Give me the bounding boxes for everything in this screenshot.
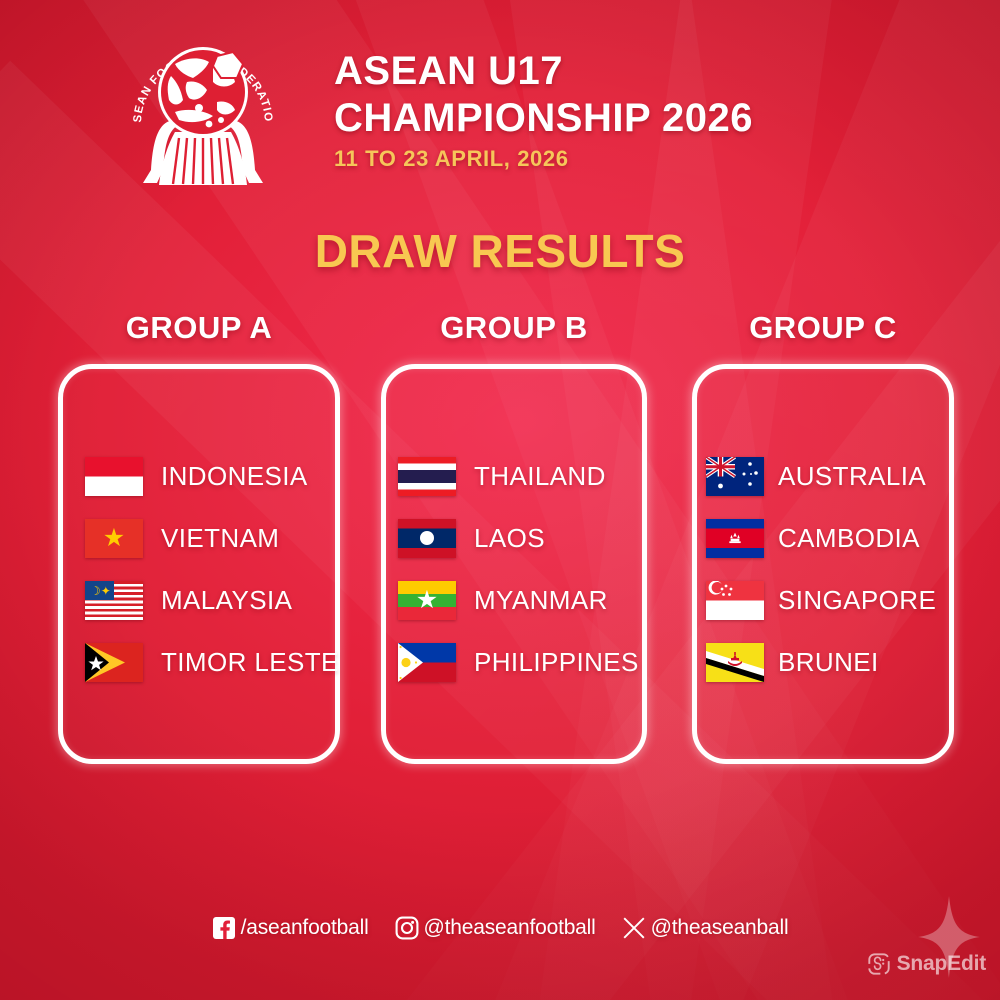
instagram-handle: @theaseanfootball bbox=[424, 916, 596, 940]
timor-leste-flag bbox=[85, 643, 143, 682]
vietnam-flag: ★ bbox=[85, 519, 143, 558]
facebook-handle: /aseanfootball bbox=[241, 916, 369, 940]
team-name: SINGAPORE bbox=[778, 585, 936, 616]
groups-section: GROUP A INDONESIA ★ VIETNAM ☽✦ MALAYSIA bbox=[0, 312, 1000, 782]
title-line-2: CHAMPIONSHIP 2026 bbox=[334, 95, 753, 142]
draw-results-heading: DRAW RESULTS bbox=[315, 224, 686, 278]
title-line-1: ASEAN U17 bbox=[334, 48, 753, 95]
indonesia-flag bbox=[85, 457, 143, 496]
team-name: TIMOR LESTE bbox=[161, 647, 339, 678]
group-column-c: GROUP C bbox=[692, 312, 954, 764]
x-twitter-icon bbox=[622, 916, 646, 940]
social-link-facebook[interactable]: /aseanfootball bbox=[212, 916, 369, 940]
team-row[interactable]: CAMBODIA bbox=[697, 507, 949, 569]
group-c-panel: AUSTRALIA bbox=[692, 364, 954, 764]
group-a-title: GROUP A bbox=[58, 312, 340, 354]
event-dates: 11 TO 23 APRIL, 2026 bbox=[334, 146, 753, 172]
team-row[interactable]: TIMOR LESTE bbox=[63, 631, 335, 693]
snapedit-watermark: SnapEdit bbox=[868, 952, 986, 976]
social-link-x-twitter[interactable]: @theaseanball bbox=[622, 916, 789, 940]
team-name: PHILIPPINES bbox=[474, 647, 639, 678]
myanmar-flag: ★ bbox=[398, 581, 456, 620]
instagram-icon bbox=[395, 916, 419, 940]
singapore-flag bbox=[706, 581, 764, 620]
snapedit-label: SnapEdit bbox=[897, 952, 986, 976]
cambodia-flag bbox=[706, 519, 764, 558]
social-link-instagram[interactable]: @theaseanfootball bbox=[395, 916, 596, 940]
team-row[interactable]: ★ MYANMAR bbox=[386, 569, 642, 631]
team-row[interactable]: ☽✦ MALAYSIA bbox=[63, 569, 335, 631]
team-name: INDONESIA bbox=[161, 461, 308, 492]
brunei-flag bbox=[706, 643, 764, 682]
team-name: CAMBODIA bbox=[778, 523, 920, 554]
thailand-flag bbox=[398, 457, 456, 496]
social-footer: /aseanfootball @theaseanfootball @thease… bbox=[0, 916, 1000, 940]
header: ASEAN FOOTBALL FEDERATION bbox=[0, 14, 1000, 199]
team-name: THAILAND bbox=[474, 461, 606, 492]
draw-results-section: DRAW RESULTS bbox=[0, 224, 1000, 278]
event-title-block: ASEAN U17 CHAMPIONSHIP 2026 11 TO 23 APR… bbox=[334, 48, 753, 172]
malaysia-flag: ☽✦ bbox=[85, 581, 143, 620]
team-row[interactable]: SINGAPORE bbox=[697, 569, 949, 631]
team-name: MYANMAR bbox=[474, 585, 608, 616]
group-b-panel: THAILAND LAOS ★ MYANMAR bbox=[381, 364, 647, 764]
laos-flag bbox=[398, 519, 456, 558]
philippines-flag bbox=[398, 643, 456, 682]
group-a-panel: INDONESIA ★ VIETNAM ☽✦ MALAYSIA bbox=[58, 364, 340, 764]
asean-football-federation-logo: ASEAN FOOTBALL FEDERATION bbox=[113, 20, 293, 200]
team-row[interactable]: ★ VIETNAM bbox=[63, 507, 335, 569]
team-row[interactable]: AUSTRALIA bbox=[697, 445, 949, 507]
group-column-a: GROUP A INDONESIA ★ VIETNAM ☽✦ MALAYSIA bbox=[58, 312, 340, 764]
team-row[interactable]: BRUNEI bbox=[697, 631, 949, 693]
group-column-b: GROUP B THAILAND LAOS ★ MYANMAR bbox=[381, 312, 647, 764]
team-name: VIETNAM bbox=[161, 523, 279, 554]
facebook-icon bbox=[212, 916, 236, 940]
group-c-title: GROUP C bbox=[692, 312, 954, 354]
team-name: BRUNEI bbox=[778, 647, 879, 678]
team-row[interactable]: PHILIPPINES bbox=[386, 631, 642, 693]
team-row[interactable]: LAOS bbox=[386, 507, 642, 569]
snapedit-logo-icon bbox=[868, 953, 890, 975]
team-name: AUSTRALIA bbox=[778, 461, 926, 492]
team-row[interactable]: INDONESIA bbox=[63, 445, 335, 507]
australia-flag bbox=[706, 457, 764, 496]
x-twitter-handle: @theaseanball bbox=[651, 916, 789, 940]
group-b-title: GROUP B bbox=[381, 312, 647, 354]
team-row[interactable]: THAILAND bbox=[386, 445, 642, 507]
team-name: MALAYSIA bbox=[161, 585, 292, 616]
team-name: LAOS bbox=[474, 523, 545, 554]
